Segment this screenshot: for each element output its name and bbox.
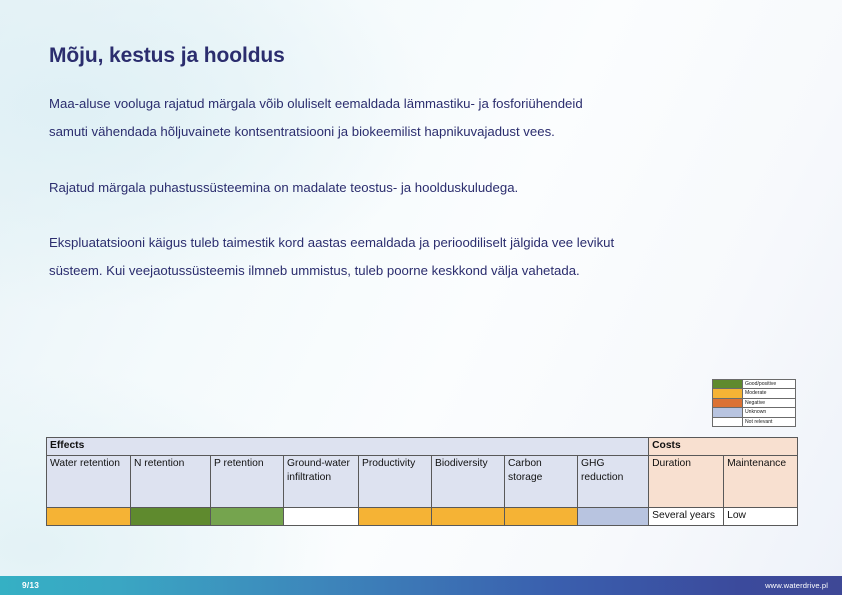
paragraph-line: Ekspluatatsiooni käigus tuleb taimestik … [49,229,614,257]
col-header-ghg-reduction: GHG reduction [578,455,649,507]
col-header-n-retention: N retention [131,455,211,507]
group-header-effects: Effects [47,438,649,456]
body-paragraph-3: Ekspluatatsiooni käigus tuleb taimestik … [49,229,614,285]
col-header-biodiversity: Biodiversity [432,455,505,507]
value-carbon-storage [505,507,578,525]
legend-label: Not relevant [743,418,795,426]
paragraph-line: süsteem. Kui veejaotussüsteemis ilmneb u… [49,257,614,285]
assessment-table: Effects Costs Water retention N retentio… [46,437,798,526]
group-header-costs: Costs [649,438,798,456]
value-productivity [359,507,432,525]
paragraph-line: Rajatud märgala puhastussüsteemina on ma… [49,174,518,202]
legend-swatch-good [713,380,743,388]
col-header-water-retention: Water retention [47,455,131,507]
legend-row: Not relevant [713,418,795,427]
value-water-retention [47,507,131,525]
slide-canvas: Mõju, kestus ja hooldus Maa-aluse voolug… [0,0,842,595]
legend-label: Moderate [743,389,795,397]
table-column-header-row: Water retention N retention P retention … [47,455,798,507]
value-biodiversity [432,507,505,525]
legend-label: Unknown [743,408,795,416]
table-row: Several years Low [47,507,798,525]
footer-bar: 9/13 www.waterdrive.pl [0,576,842,595]
col-header-groundwater-infiltration: Ground-water infiltration [284,455,359,507]
col-header-duration: Duration [649,455,724,507]
value-ghg-reduction [578,507,649,525]
legend-row: Moderate [713,389,795,398]
legend-label: Good/positive [743,380,795,388]
table-group-header-row: Effects Costs [47,438,798,456]
col-header-p-retention: P retention [211,455,284,507]
paragraph-line: Maa-aluse vooluga rajatud märgala võib o… [49,90,583,118]
value-duration: Several years [649,507,724,525]
col-header-maintenance: Maintenance [724,455,798,507]
page-title: Mõju, kestus ja hooldus [49,44,285,68]
legend-row: Negative [713,399,795,408]
page-number: 9/13 [22,580,39,590]
footer-url: www.waterdrive.pl [765,581,828,590]
body-paragraph-1: Maa-aluse vooluga rajatud märgala võib o… [49,90,583,146]
legend-swatch-negative [713,399,743,407]
col-header-carbon-storage: Carbon storage [505,455,578,507]
legend-row: Good/positive [713,380,795,389]
legend-swatch-unknown [713,408,743,416]
color-legend: Good/positive Moderate Negative Unknown … [712,379,796,427]
value-p-retention [211,507,284,525]
legend-swatch-not-relevant [713,418,743,426]
legend-row: Unknown [713,408,795,417]
col-header-productivity: Productivity [359,455,432,507]
value-groundwater-infiltration [284,507,359,525]
legend-label: Negative [743,399,795,407]
value-maintenance: Low [724,507,798,525]
value-n-retention [131,507,211,525]
paragraph-line: samuti vähendada hõljuvainete kontsentra… [49,118,583,146]
body-paragraph-2: Rajatud märgala puhastussüsteemina on ma… [49,174,518,202]
legend-swatch-moderate [713,389,743,397]
